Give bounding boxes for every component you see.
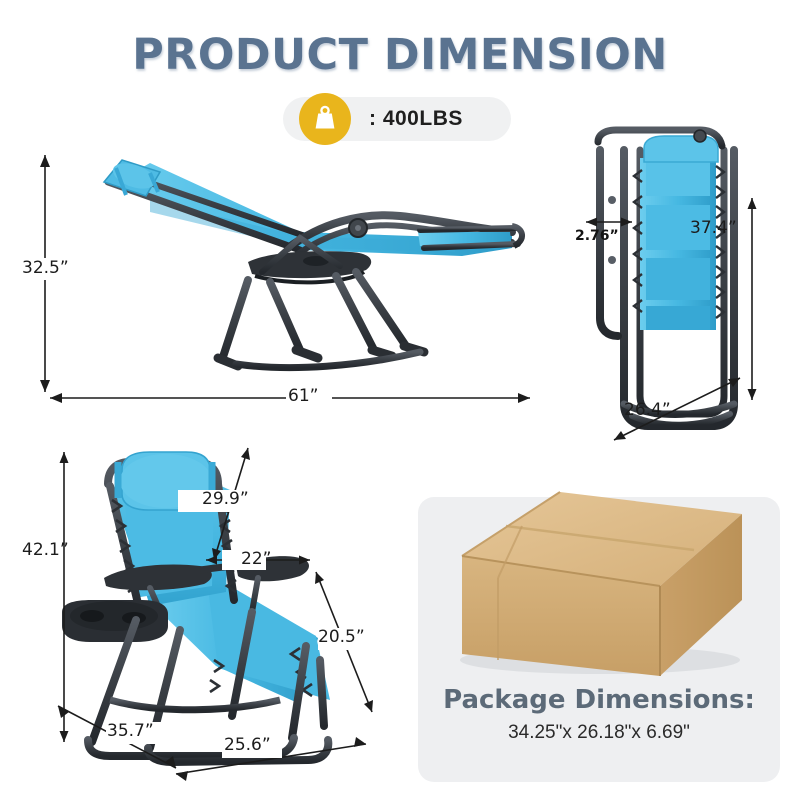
weight-icon xyxy=(299,93,351,145)
dim-upright-overall-height: 42.1” xyxy=(22,540,69,560)
dim-upright-back-height: 29.9” xyxy=(202,489,249,509)
weight-capacity-label: : 400LBS xyxy=(369,97,463,141)
dim-folded-height: 37.4” xyxy=(690,218,737,238)
dim-reclined-length: 61” xyxy=(288,386,318,406)
package-dimensions-title: Package Dimensions: xyxy=(418,685,780,715)
dim-upright-overall-length: 35.7” xyxy=(107,721,154,741)
package-dimensions-value: 34.25"x 26.18"x 6.69" xyxy=(418,722,780,744)
dim-folded-depth: 26.4” xyxy=(624,400,671,420)
dim-upright-base-width: 25.6” xyxy=(224,735,271,755)
infographic-canvas: PRODUCT DIMENSION : 400LBS xyxy=(0,0,800,800)
dim-upright-arm-width: 22” xyxy=(241,549,271,569)
page-title: PRODUCT DIMENSION xyxy=(0,30,800,80)
dim-reclined-height: 32.5” xyxy=(22,258,69,278)
dim-folded-thickness: 2.76” xyxy=(575,228,619,244)
dim-upright-seat-depth: 20.5” xyxy=(318,627,365,647)
weight-capacity-badge: : 400LBS xyxy=(283,97,511,141)
